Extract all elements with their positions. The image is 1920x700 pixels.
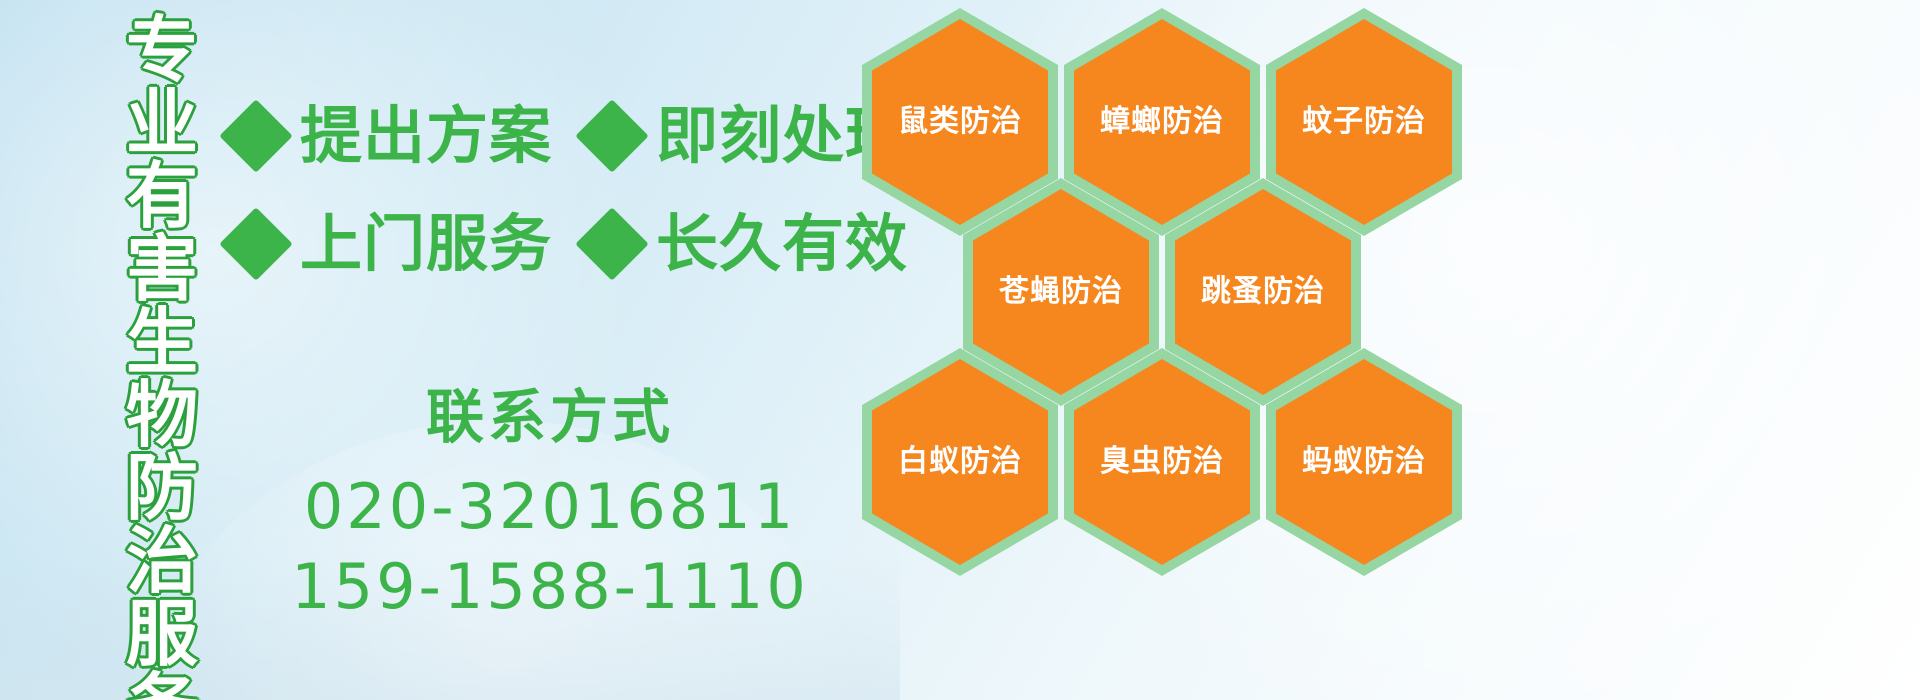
service-hex-label: 白蚁防治: [898, 445, 1022, 479]
service-hex-fill: 臭虫防治: [1074, 359, 1250, 565]
service-hex-label: 鼠类防治: [898, 105, 1022, 139]
vertical-headline-char: 物: [126, 379, 198, 452]
feature-item: 长久有效: [586, 213, 908, 275]
vertical-headline-char: 治: [126, 525, 198, 598]
diamond-icon: [219, 207, 293, 281]
contact-phone-mobile[interactable]: 159-1588-1110: [230, 547, 870, 627]
contact-phone-landline[interactable]: 020-32016811: [230, 467, 870, 547]
vertical-headline-char: 专: [126, 14, 198, 87]
feature-list: 提出方案 即刻处理 上门服务 长久有效: [230, 82, 870, 298]
vertical-headline-char: 服: [126, 598, 198, 671]
vertical-headline: 专 业 有 害 生 物 防 治 服 务: [108, 14, 216, 686]
service-hex-label: 蚂蚁防治: [1302, 445, 1426, 479]
service-hex-label: 苍蝇防治: [999, 275, 1123, 309]
diamond-icon: [219, 99, 293, 173]
service-hex-label: 臭虫防治: [1100, 445, 1224, 479]
feature-label: 提出方案: [300, 105, 552, 167]
service-hex-fill: 蚊子防治: [1276, 19, 1452, 225]
diamond-icon: [575, 99, 649, 173]
feature-item: 即刻处理: [586, 105, 908, 167]
service-hex-fill: 白蚁防治: [872, 359, 1048, 565]
vertical-headline-char: 有: [126, 160, 198, 233]
feature-row: 提出方案 即刻处理: [230, 82, 870, 190]
service-hex-fill: 跳蚤防治: [1175, 189, 1351, 395]
contact-heading: 联系方式: [230, 385, 870, 449]
service-hex-fill: 鼠类防治: [872, 19, 1048, 225]
feature-label: 上门服务: [300, 213, 552, 275]
diamond-icon: [575, 207, 649, 281]
service-hex-label: 蟑螂防治: [1100, 105, 1224, 139]
vertical-headline-char: 害: [126, 233, 198, 306]
promo-banner: 专 业 有 害 生 物 防 治 服 务 提出方案 即刻处理 上门服务: [0, 0, 1920, 700]
service-hex-label: 蚊子防治: [1302, 105, 1426, 139]
service-hex-label: 跳蚤防治: [1201, 275, 1325, 309]
vertical-headline-char: 务: [126, 671, 198, 700]
feature-item: 提出方案: [230, 105, 552, 167]
vertical-headline-char: 业: [126, 87, 198, 160]
vertical-headline-char: 生: [126, 306, 198, 379]
service-hexagon-grid: 鼠类防治 蟑螂防治 蚊子防治 苍蝇防治 跳蚤防治 白蚁防治: [862, 0, 1502, 700]
feature-item: 上门服务: [230, 213, 552, 275]
vertical-headline-char: 防: [126, 452, 198, 525]
feature-row: 上门服务 长久有效: [230, 190, 870, 298]
contact-block: 联系方式 020-32016811 159-1588-1110: [230, 385, 870, 627]
service-hex-fill: 苍蝇防治: [973, 189, 1149, 395]
service-hex-fill: 蟑螂防治: [1074, 19, 1250, 225]
service-hex-fill: 蚂蚁防治: [1276, 359, 1452, 565]
